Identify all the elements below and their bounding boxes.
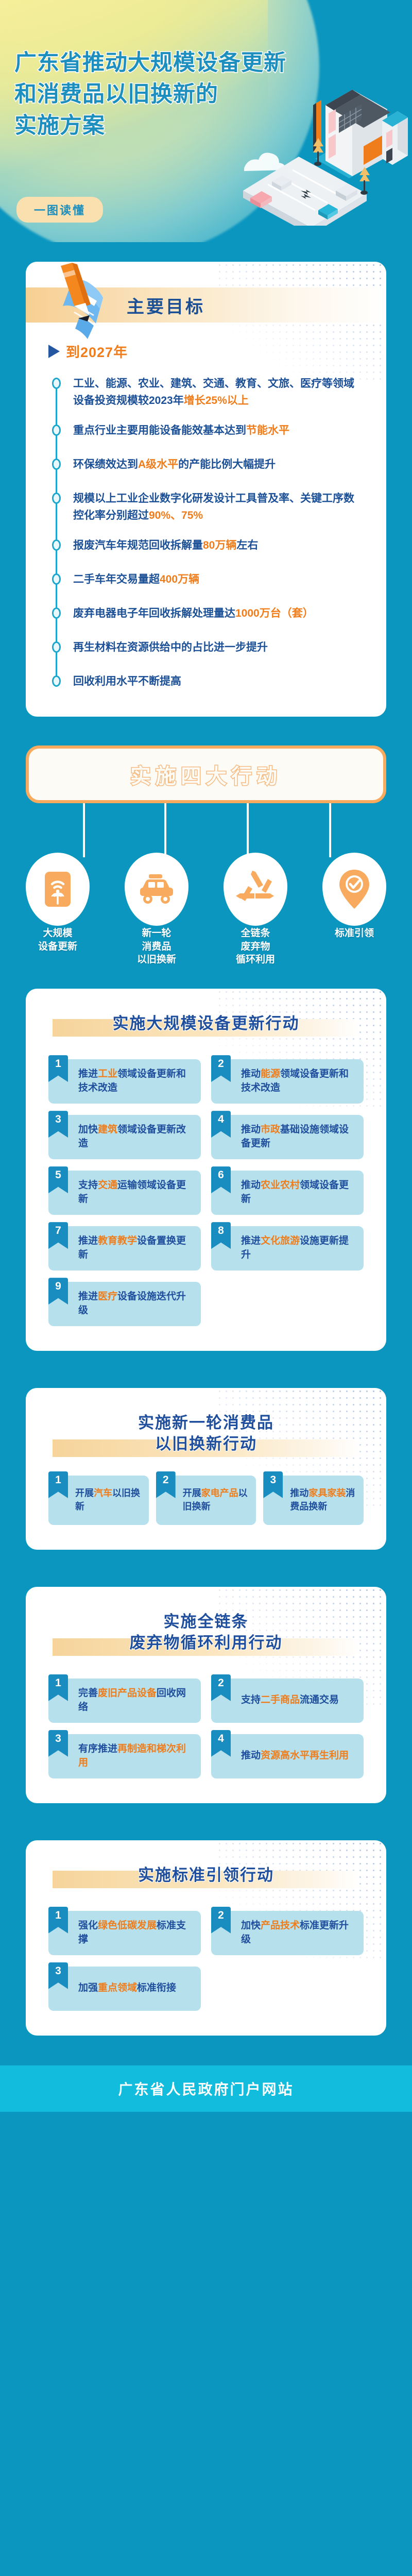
action-section-card: 实施标准引领行动1强化绿色低碳发展标准支撑2加快产品技术标准更新升级3加强重点领…	[26, 1840, 386, 2036]
text-highlight: 增长25%以上	[184, 395, 249, 406]
goal-bullet-dot	[52, 378, 61, 389]
text-plain: 推动	[241, 1069, 261, 1079]
text-plain: 完善	[78, 1688, 98, 1699]
text-highlight: 二手商品	[261, 1694, 300, 1705]
goal-bullet-dot	[52, 493, 61, 504]
text-plain: 加强	[78, 1982, 98, 1993]
action-item-text: 推动市政基础设施领域设备更新	[241, 1123, 356, 1151]
text-plain: 重点行业主要用能设备能效基本达到	[73, 425, 246, 436]
action-item-text: 加快产品技术标准更新升级	[241, 1919, 356, 1947]
goals-deadline-row: 到2027年	[48, 341, 386, 361]
action-section-title-line: 实施全链条	[26, 1612, 386, 1633]
action-item-text: 支持交通运输领域设备更新	[78, 1179, 194, 1207]
text-highlight: 文化旅游	[261, 1235, 300, 1246]
action-section-title-line: 实施新一轮消费品	[26, 1413, 386, 1434]
goal-item-text: 报废汽车年规范回收拆解量80万辆左右	[73, 537, 364, 554]
text-highlight: 市政	[261, 1124, 280, 1135]
action-item-text: 推动资源高水平再生利用	[241, 1749, 349, 1763]
footer-label: 广东省人民政府门户网站	[118, 2078, 294, 2099]
text-highlight: 农业农村	[261, 1180, 300, 1191]
text-highlight: 汽车	[94, 1488, 112, 1498]
action-item[interactable]: 1完善废旧产品设备回收网络	[48, 1679, 201, 1723]
action-item-text: 推动家具家装消费品换新	[290, 1487, 356, 1513]
text-plain: 有序推进	[78, 1743, 117, 1754]
text-plain: 推动	[241, 1750, 261, 1761]
action-item[interactable]: 3加强重点领域标准衔接	[48, 1967, 201, 2011]
four-action-label-line: 新一轮	[125, 927, 188, 940]
text-plain: 推动	[290, 1488, 308, 1498]
text-highlight: 交通	[98, 1180, 117, 1191]
goal-bullet-dot	[52, 607, 61, 619]
action-item[interactable]: 1开展汽车以旧换新	[48, 1476, 149, 1525]
goal-bullet-dot	[52, 425, 61, 436]
goal-item: 回收利用水平不断提高	[50, 673, 364, 694]
four-action-label-line: 循环利用	[224, 953, 287, 967]
stem-3	[247, 803, 249, 857]
action-item-number: 1	[48, 1907, 68, 1934]
goal-bullet-dot	[52, 641, 61, 653]
action-item-text: 开展汽车以旧换新	[75, 1487, 142, 1513]
text-plain: 回收利用水平不断提高	[73, 675, 181, 687]
action-item-number: 3	[48, 1111, 68, 1138]
text-plain: 推动	[241, 1124, 261, 1135]
action-item-number: 2	[211, 1907, 231, 1934]
text-plain: 废弃电器电子年回收拆解处理量达	[73, 607, 235, 619]
action-item[interactable]: 1推进工业领域设备更新和技术改造	[48, 1059, 201, 1104]
action-item-number: 1	[48, 1471, 68, 1498]
action-item-text: 推动农业农村领域设备更新	[241, 1179, 356, 1207]
action-item-text: 加快建筑领域设备更新改造	[78, 1123, 194, 1151]
goal-item: 二手车年交易量超400万辆	[50, 571, 364, 592]
main-goals-title: 主要目标	[127, 293, 205, 318]
hero-title-line-3: 实施方案	[14, 110, 334, 142]
four-actions-banner-label: 实施四大行动	[130, 759, 282, 789]
action-item-text: 有序推进再制造和梯次利用	[78, 1742, 194, 1770]
hero-title: 广东省推动大规模设备更新 和消费品以旧换新的 实施方案	[14, 47, 334, 142]
action-item-number: 2	[211, 1055, 231, 1082]
action-item-text: 强化绿色低碳发展标准支撑	[78, 1919, 194, 1947]
action-item-text: 推进文化旅游设施更新提升	[241, 1234, 356, 1262]
action-item-text: 支持二手商品流通交易	[241, 1693, 339, 1707]
four-action-label-1: 大规模设备更新	[26, 927, 90, 967]
goal-item-text: 规模以上工业企业数字化研发设计工具普及率、关键工序数控化率分别超过90%、75%	[73, 490, 364, 524]
text-plain: 加快	[78, 1124, 98, 1135]
action-item-number: 9	[48, 1278, 68, 1304]
four-action-label-2: 新一轮消费品以旧换新	[125, 927, 188, 967]
pencil-paper-icon	[49, 263, 112, 341]
standard-check-icon	[338, 869, 370, 910]
text-plain: 推进	[241, 1235, 261, 1246]
site-footer: 广东省人民政府门户网站	[0, 2065, 412, 2112]
car-trade-in-icon	[136, 873, 177, 905]
hero-title-line-1: 广东省推动大规模设备更新	[14, 47, 334, 79]
text-plain: 流通交易	[300, 1694, 339, 1705]
action-item-number: 1	[48, 1674, 68, 1701]
text-highlight: 400万辆	[160, 573, 199, 585]
text-plain: 支持	[241, 1694, 261, 1705]
text-highlight: 资源高水平再生利用	[261, 1750, 349, 1761]
goal-item: 报废汽车年规范回收拆解量80万辆左右	[50, 537, 364, 558]
text-highlight: 80万辆	[203, 539, 236, 551]
goal-bullet-dot	[52, 539, 61, 551]
goals-list: 工业、能源、农业、建筑、交通、教育、文旅、医疗等领域设备投资规模较2023年增长…	[50, 376, 364, 694]
action-item[interactable]: 2支持二手商品流通交易	[211, 1679, 364, 1723]
goal-item: 规模以上工业企业数字化研发设计工具普及率、关键工序数控化率分别超过90%、75%	[50, 490, 364, 524]
main-goals-card: 主要目标 到2027年 工业、能源、农业、建筑、交通、教育、文旅、医疗等领域设备…	[26, 262, 386, 717]
action-item-number: 7	[48, 1222, 68, 1249]
action-item[interactable]: 5支持交通运输领域设备更新	[48, 1171, 201, 1215]
four-action-bubble-1[interactable]	[26, 853, 90, 926]
action-section-title: 实施大规模设备更新行动	[26, 1006, 386, 1038]
four-actions-section: 实施四大行动	[0, 745, 412, 952]
text-plain: 二手车年交易量超	[73, 573, 160, 585]
four-action-label-line: 全链条	[224, 927, 287, 940]
text-highlight: 家具家装	[308, 1488, 346, 1498]
goals-deadline-label: 到2027年	[66, 341, 128, 361]
four-action-label-line: 消费品	[125, 940, 188, 954]
goal-item: 再生材料在资源供给中的占比进一步提升	[50, 639, 364, 660]
action-item-grid: 1完善废旧产品设备回收网络2支持二手商品流通交易3有序推进再制造和梯次利用4推动…	[48, 1679, 364, 1778]
goal-bullet-dot	[52, 459, 61, 470]
goal-item-text: 环保绩效达到A级水平的产能比例大幅提升	[73, 456, 364, 473]
hero-header: 广东省推动大规模设备更新 和消费品以旧换新的 实施方案 一图读懂	[0, 0, 412, 242]
action-item-number: 3	[48, 1962, 68, 1989]
text-plain: 加快	[241, 1920, 261, 1931]
action-section-card: 实施大规模设备更新行动1推进工业领域设备更新和技术改造2推动能源领域设备更新和技…	[26, 989, 386, 1351]
action-item-text: 开展家电产品以旧换新	[183, 1487, 249, 1513]
text-highlight: 废旧产品设备	[98, 1688, 157, 1699]
action-item-number: 3	[263, 1471, 283, 1498]
main-goals-band: 主要目标	[26, 287, 386, 323]
four-actions-icon-row	[26, 853, 386, 926]
text-plain: 推进	[78, 1291, 98, 1302]
action-section-title: 实施标准引领行动	[26, 1858, 386, 1889]
action-section-title: 实施全链条废弃物循环利用行动	[26, 1604, 386, 1657]
text-highlight: 家电产品	[201, 1488, 238, 1498]
infographic-page: 广东省推动大规模设备更新 和消费品以旧换新的 实施方案 一图读懂	[0, 0, 412, 2576]
device-upgrade-icon	[40, 869, 76, 910]
goal-item-text: 重点行业主要用能设备能效基本达到节能水平	[73, 422, 364, 439]
four-action-bubble-3[interactable]	[224, 853, 287, 926]
action-item[interactable]: 6推动农业农村领域设备更新	[211, 1171, 364, 1215]
text-highlight: A级水平	[138, 459, 178, 470]
goal-item: 重点行业主要用能设备能效基本达到节能水平	[50, 422, 364, 443]
action-item[interactable]: 2推动能源领域设备更新和技术改造	[211, 1059, 364, 1104]
goal-item: 废弃电器电子年回收拆解处理量达1000万台（套）	[50, 605, 364, 626]
action-item-number: 4	[211, 1730, 231, 1757]
action-section-title-line: 实施大规模设备更新行动	[26, 1013, 386, 1035]
action-item-grid: 1推进工业领域设备更新和技术改造2推动能源领域设备更新和技术改造3加快建筑领域设…	[48, 1059, 364, 1326]
text-highlight: 绿色低碳发展	[98, 1920, 157, 1931]
action-item-number: 8	[211, 1222, 231, 1249]
action-section-title: 实施新一轮消费品以旧换新行动	[26, 1405, 386, 1458]
text-highlight: 产品技术	[261, 1920, 300, 1931]
action-section-card: 实施新一轮消费品以旧换新行动1开展汽车以旧换新2开展家电产品以旧换新3推动家具家…	[26, 1388, 386, 1550]
action-item-number: 1	[48, 1055, 68, 1082]
four-action-label-4: 标准引领	[322, 927, 386, 967]
action-item[interactable]: 2开展家电产品以旧换新	[156, 1476, 256, 1525]
connector-stems	[0, 803, 412, 860]
text-plain: 再生材料在资源供给中的占比进一步提升	[73, 641, 268, 653]
play-triangle-icon	[48, 345, 60, 358]
action-item[interactable]: 3推动家具家装消费品换新	[263, 1476, 364, 1525]
goal-item: 环保绩效达到A级水平的产能比例大幅提升	[50, 456, 364, 477]
action-item[interactable]: 3加快建筑领域设备更新改造	[48, 1115, 201, 1159]
action-item-number: 3	[48, 1730, 68, 1757]
text-plain: 推动	[241, 1180, 261, 1191]
four-action-label-line: 标准引领	[322, 927, 386, 940]
action-item-number: 2	[211, 1674, 231, 1701]
text-plain: 规模以上工业企业数字化研发设计工具普及率、关键工序数控化率分别超过	[73, 493, 354, 521]
recycle-icon	[236, 870, 275, 909]
action-item-number: 6	[211, 1166, 231, 1193]
text-highlight: 教育教学	[98, 1235, 137, 1246]
action-item-number: 2	[156, 1471, 176, 1498]
action-item[interactable]: 9推进医疗设备设施迭代升级	[48, 1282, 201, 1326]
text-plain: 开展	[183, 1488, 201, 1498]
action-section-title-line: 废弃物循环利用行动	[26, 1633, 386, 1654]
text-highlight: 工业	[98, 1069, 117, 1079]
hero-title-line-2: 和消费品以旧换新的	[14, 79, 334, 110]
action-item-text: 加强重点领域标准衔接	[78, 1981, 176, 1995]
action-item-text: 推进工业领域设备更新和技术改造	[78, 1067, 194, 1095]
stem-4	[329, 803, 331, 857]
stem-2	[164, 803, 166, 857]
text-highlight: 90%、75%	[149, 510, 203, 521]
text-plain: 标准衔接	[137, 1982, 176, 1993]
four-action-label-line: 以旧换新	[125, 953, 188, 967]
goal-bullet-dot	[52, 573, 61, 585]
read-at-a-glance-badge: 一图读懂	[16, 197, 103, 223]
text-highlight: 能源	[261, 1069, 280, 1079]
action-item[interactable]: 4推动资源高水平再生利用	[211, 1734, 364, 1778]
action-sections: 实施大规模设备更新行动1推进工业领域设备更新和技术改造2推动能源领域设备更新和技…	[0, 989, 412, 2035]
action-item-text: 推进医疗设备设施迭代升级	[78, 1290, 194, 1318]
action-section-card: 实施全链条废弃物循环利用行动1完善废旧产品设备回收网络2支持二手商品流通交易3有…	[26, 1587, 386, 1803]
text-plain: 报废汽车年规范回收拆解量	[73, 539, 203, 551]
text-plain: 的产能比例大幅提升	[178, 459, 276, 470]
stem-1	[83, 803, 85, 857]
four-actions-label-row: 大规模设备更新 新一轮消费品以旧换新 全链条废弃物循环利用 标准引领	[26, 927, 386, 967]
text-plain: 推进	[78, 1069, 98, 1079]
four-action-label-line: 废弃物	[224, 940, 287, 954]
text-plain: 支持	[78, 1180, 98, 1191]
goal-bullet-dot	[52, 675, 61, 687]
four-actions-banner: 实施四大行动	[26, 745, 386, 803]
goal-item-text: 再生材料在资源供给中的占比进一步提升	[73, 639, 364, 656]
action-item[interactable]: 4推动市政基础设施领域设备更新	[211, 1115, 364, 1159]
action-item-number: 5	[48, 1166, 68, 1193]
action-section-title-line: 实施标准引领行动	[26, 1865, 386, 1886]
text-highlight: 重点领域	[98, 1982, 137, 1993]
four-action-label-3: 全链条废弃物循环利用	[224, 927, 287, 967]
action-item-grid: 1开展汽车以旧换新2开展家电产品以旧换新3推动家具家装消费品换新	[48, 1476, 364, 1525]
action-item[interactable]: 1强化绿色低碳发展标准支撑	[48, 1911, 201, 1955]
action-item[interactable]: 7推进教育教学设备置换更新	[48, 1226, 201, 1270]
text-plain: 强化	[78, 1920, 98, 1931]
action-item-number: 4	[211, 1111, 231, 1138]
action-item[interactable]: 8推进文化旅游设施更新提升	[211, 1226, 364, 1270]
action-item-text: 推动能源领域设备更新和技术改造	[241, 1067, 356, 1095]
action-item[interactable]: 2加快产品技术标准更新升级	[211, 1911, 364, 1955]
text-plain: 左右	[236, 539, 258, 551]
action-section-title-line: 以旧换新行动	[26, 1434, 386, 1455]
text-highlight: 节能水平	[246, 425, 289, 436]
four-action-label-line: 设备更新	[26, 940, 90, 954]
text-highlight: 建筑	[98, 1124, 117, 1135]
four-action-bubble-2[interactable]	[125, 853, 188, 926]
goal-item-text: 二手车年交易量超400万辆	[73, 571, 364, 588]
goal-item-text: 回收利用水平不断提高	[73, 673, 364, 690]
four-action-label-line: 大规模	[26, 927, 90, 940]
four-action-bubble-4[interactable]	[322, 853, 386, 926]
action-item-text: 推进教育教学设备置换更新	[78, 1234, 194, 1262]
text-highlight: 医疗	[98, 1291, 117, 1302]
text-plain: 推进	[78, 1235, 98, 1246]
action-item-grid: 1强化绿色低碳发展标准支撑2加快产品技术标准更新升级3加强重点领域标准衔接	[48, 1911, 364, 2011]
goal-item-text: 工业、能源、农业、建筑、交通、教育、文旅、医疗等领域设备投资规模较2023年增长…	[73, 376, 364, 409]
text-plain: 开展	[75, 1488, 94, 1498]
text-plain: 环保绩效达到	[73, 459, 138, 470]
goal-item: 工业、能源、农业、建筑、交通、教育、文旅、医疗等领域设备投资规模较2023年增长…	[50, 376, 364, 409]
goal-item-text: 废弃电器电子年回收拆解处理量达1000万台（套）	[73, 605, 364, 622]
action-item[interactable]: 3有序推进再制造和梯次利用	[48, 1734, 201, 1778]
action-item-text: 完善废旧产品设备回收网络	[78, 1687, 194, 1715]
text-highlight: 1000万台（套）	[235, 607, 314, 619]
